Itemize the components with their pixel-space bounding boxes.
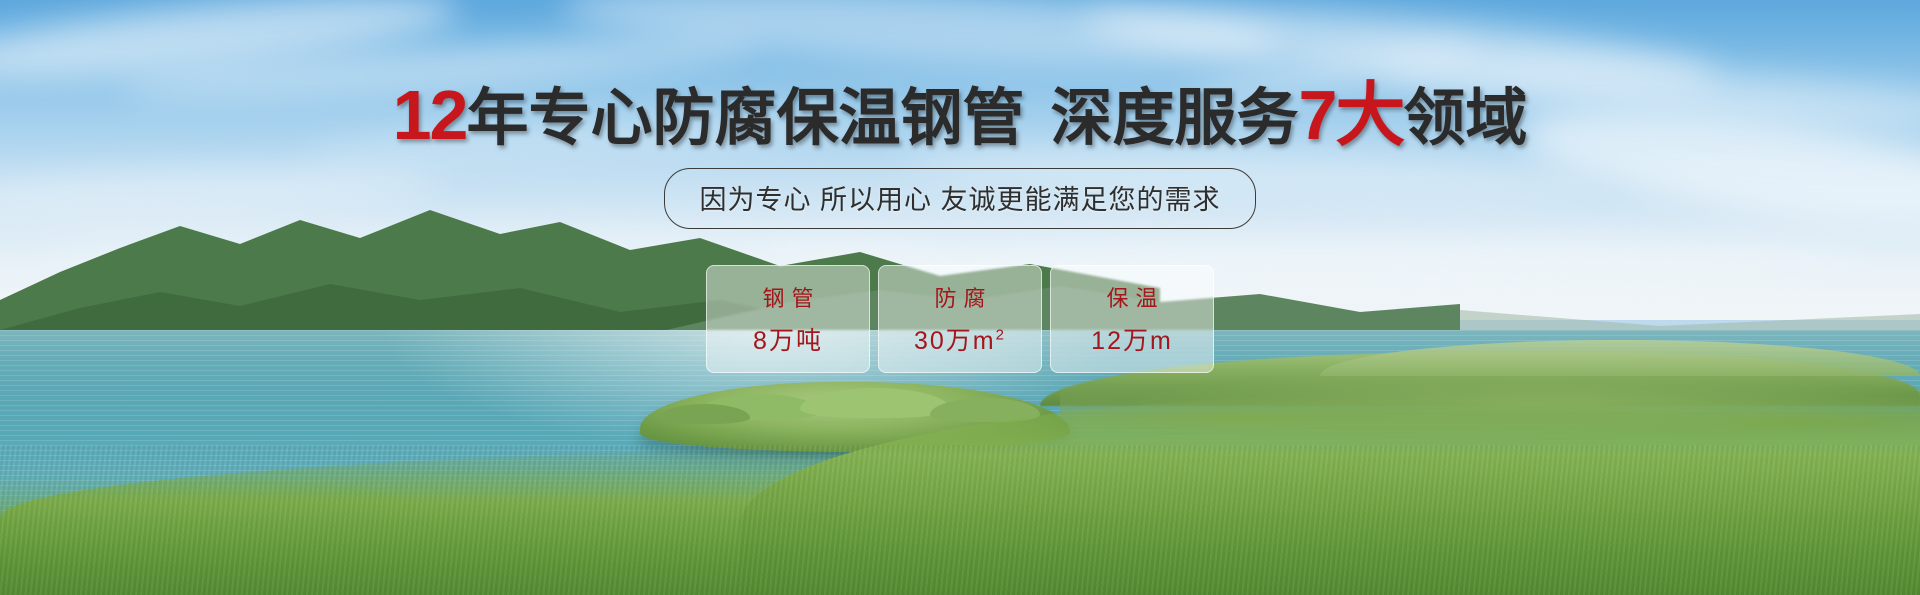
headline-seven-number: 7大 — [1298, 76, 1403, 154]
stat-card-label: 保温 — [1099, 281, 1164, 313]
headline-years-number: 12 — [393, 76, 467, 154]
stat-card-value: 12万m — [1091, 321, 1173, 357]
promo-banner: 12年专心防腐保温钢管深度服务7大领域 因为专心 所以用心 友诚更能满足您的需求… — [0, 0, 1920, 595]
stat-card-steel-pipe: 钢管 8万吨 — [706, 265, 870, 373]
headline-service-suffix: 领域 — [1403, 84, 1527, 153]
stat-card-value-text: 30万m — [914, 327, 996, 355]
stat-cards: 钢管 8万吨 防腐 30万m2 保温 12万m — [0, 265, 1920, 373]
stat-card-value-text: 8万吨 — [753, 327, 823, 355]
stat-card-value: 8万吨 — [753, 321, 823, 357]
headline-years-text: 年专心防腐保温钢管 — [466, 84, 1024, 153]
banner-content: 12年专心防腐保温钢管深度服务7大领域 因为专心 所以用心 友诚更能满足您的需求… — [0, 0, 1920, 595]
stat-card-value: 30万m2 — [914, 321, 1006, 357]
stat-card-label: 防腐 — [927, 281, 992, 313]
stat-card-value-text: 12万m — [1091, 327, 1173, 355]
headline-service-prefix: 深度服务 — [1050, 84, 1298, 153]
banner-subtitle-pill: 因为专心 所以用心 友诚更能满足您的需求 — [664, 168, 1255, 229]
banner-headline: 12年专心防腐保温钢管深度服务7大领域 — [0, 80, 1920, 150]
stat-card-label: 钢管 — [755, 281, 820, 313]
stat-card-anticorrosion: 防腐 30万m2 — [878, 265, 1042, 373]
banner-subtitle-wrapper: 因为专心 所以用心 友诚更能满足您的需求 — [0, 168, 1920, 229]
stat-card-insulation: 保温 12万m — [1050, 265, 1214, 373]
stat-card-value-superscript: 2 — [996, 327, 1006, 344]
